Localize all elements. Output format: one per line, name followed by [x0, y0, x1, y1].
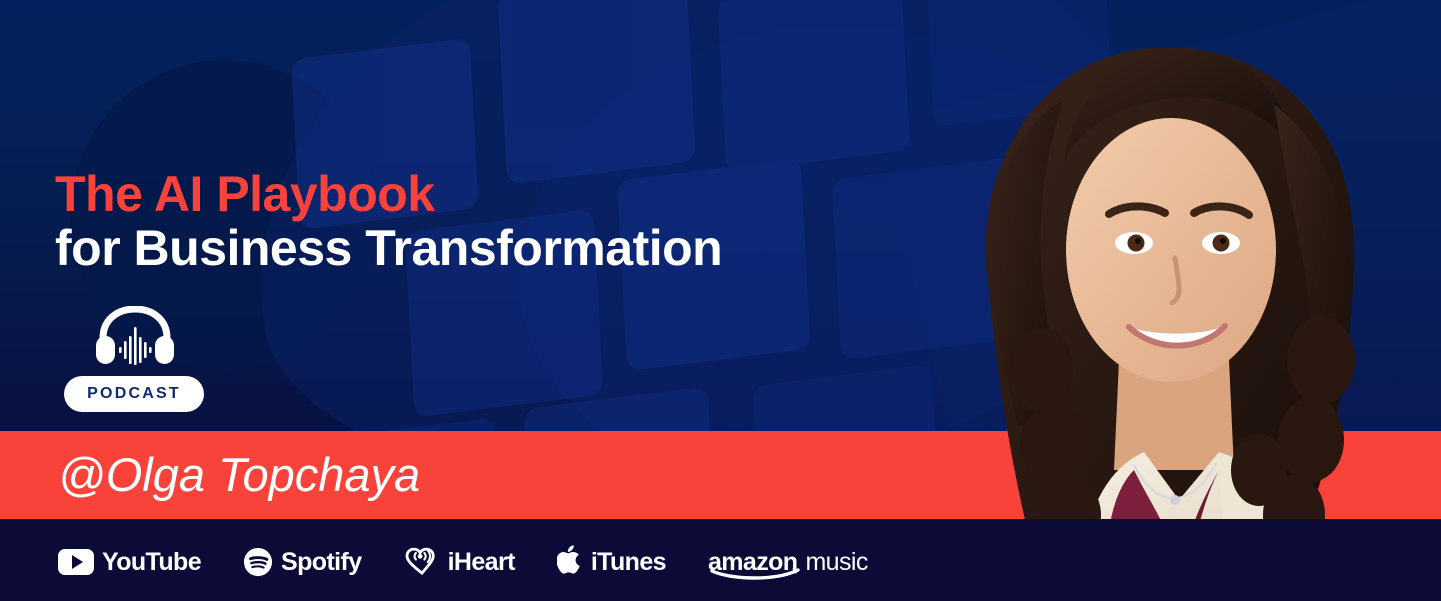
- platform-youtube-label: YouTube: [102, 548, 201, 577]
- platform-spotify[interactable]: Spotify: [243, 547, 362, 577]
- headphones-waveform-icon: [95, 306, 175, 373]
- youtube-icon: [58, 549, 94, 575]
- show-title-line-2: for Business Transformation: [55, 220, 722, 276]
- platform-amazon-music-label: music: [805, 548, 867, 577]
- platform-iheart-label: iHeart: [448, 548, 515, 577]
- podcast-badge: PODCAST: [64, 376, 204, 412]
- apple-icon: [557, 544, 583, 580]
- platform-logo-list: YouTube Spotify: [58, 540, 868, 584]
- podcast-badge-label: PODCAST: [87, 385, 181, 403]
- platform-iheart[interactable]: iHeart: [404, 545, 515, 580]
- platform-youtube[interactable]: YouTube: [58, 548, 201, 577]
- platform-amazon-music[interactable]: amazon music: [708, 548, 868, 577]
- iheart-icon: [404, 545, 440, 580]
- platform-itunes[interactable]: iTunes: [557, 544, 666, 580]
- platform-itunes-label: iTunes: [591, 548, 666, 577]
- host-handle: @Olga Topchaya: [58, 447, 420, 502]
- show-title: The AI Playbook for Business Transformat…: [55, 168, 722, 276]
- podcast-banner: The AI Playbook for Business Transformat…: [0, 0, 1441, 601]
- platform-spotify-label: Spotify: [281, 548, 362, 577]
- show-title-line-1: The AI Playbook: [55, 168, 722, 220]
- spotify-icon: [243, 547, 273, 577]
- amazon-icon: [710, 567, 805, 586]
